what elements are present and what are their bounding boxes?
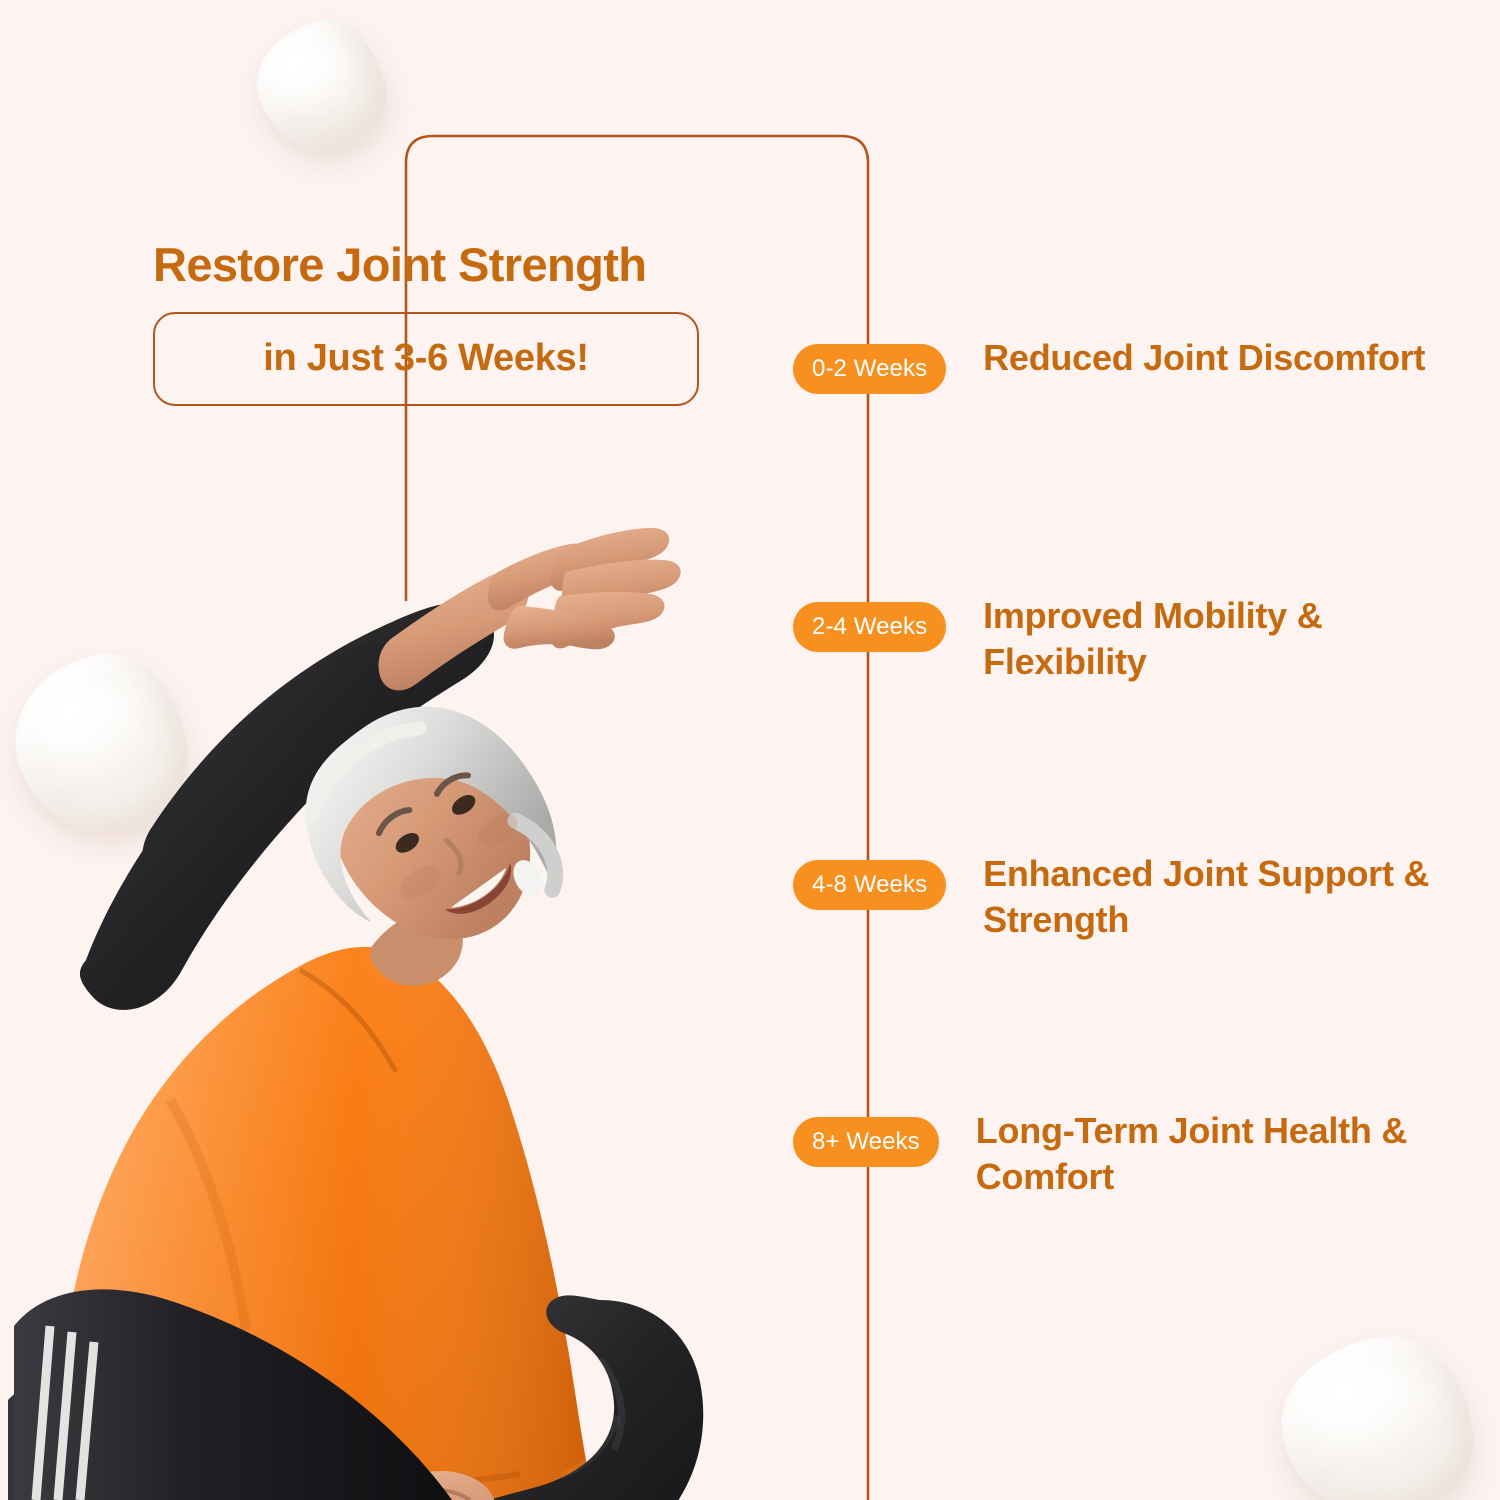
timeline-item-2: 4-8 Weeks Enhanced Joint Support & Stren…	[793, 860, 1453, 943]
poster-canvas: Restore Joint Strength in Just 3-6 Weeks…	[0, 0, 1500, 1500]
cream-blob-top-left-icon	[244, 9, 397, 164]
timeline-item-3: 8+ Weeks Long-Term Joint Health & Comfor…	[793, 1117, 1446, 1200]
hero-legs	[0, 1230, 620, 1500]
timeline-label-0: Reduced Joint Discomfort	[983, 335, 1425, 381]
subtitle-text: in Just 3-6 Weeks!	[263, 337, 588, 380]
page-title: Restore Joint Strength	[153, 240, 713, 290]
timeline-item-0: 0-2 Weeks Reduced Joint Discomfort	[793, 344, 1425, 394]
timeline-label-2: Enhanced Joint Support & Strength	[983, 851, 1453, 943]
timeline-badge-3: 8+ Weeks	[793, 1117, 939, 1167]
timeline-item-1: 2-4 Weeks Improved Mobility & Flexibilit…	[793, 602, 1453, 685]
timeline-label-1: Improved Mobility & Flexibility	[983, 593, 1453, 685]
timeline-label-3: Long-Term Joint Health & Comfort	[976, 1108, 1446, 1200]
subtitle-pill: in Just 3-6 Weeks!	[153, 312, 699, 406]
headline-block: Restore Joint Strength in Just 3-6 Weeks…	[153, 240, 713, 406]
timeline-badge-0: 0-2 Weeks	[793, 344, 946, 394]
cream-blob-bottom-right-icon	[1273, 1329, 1481, 1500]
timeline-badge-2: 4-8 Weeks	[793, 860, 946, 910]
timeline-badge-1: 2-4 Weeks	[793, 602, 946, 652]
